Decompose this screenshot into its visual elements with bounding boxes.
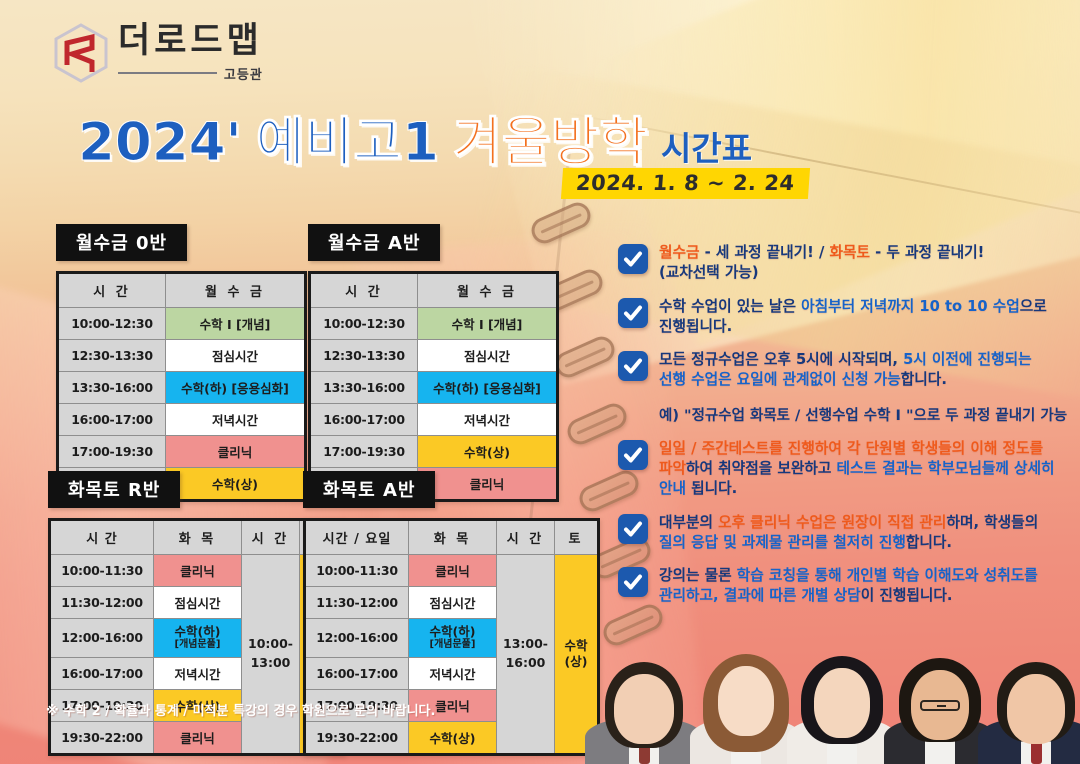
timetable-label: 월수금 0반 [56,224,187,261]
timetable-block-weekday-a: 월수금 A반시 간월 수 금10:00-12:30수학 I [개념]12:30-… [308,224,559,502]
time-cell: 13:30-16:00 [310,372,418,404]
feature-bullet: 강의는 물론 학습 코칭을 통해 개인별 학습 이해도와 성취도를관리하고, 결… [618,566,1070,607]
bullet-text-segment: 으로 [1020,298,1047,315]
time-cell: 11:30-12:00 [305,587,409,619]
bullet-text-segment: - 세 과정 끝내기! / [700,244,830,261]
timetable: 시 간월 수 금10:00-12:30수학 I [개념]12:30-13:30점… [56,271,307,502]
bullet-text-segment: 하여 취약점을 보완하고 [686,460,836,477]
time-cell: 12:30-13:30 [310,340,418,372]
bullet-line: 강의는 물론 학습 코칭을 통해 개인별 학습 이해도와 성취도를 [659,566,1038,586]
check-icon [618,244,648,274]
example-note: 예) "정규수업 화목토 / 선행수업 수학 Ⅰ "으로 두 과정 끝내기 가능 [659,404,1070,425]
bullet-text-segment: 수학 수업이 있는 날은 [659,298,801,315]
feature-bullet-list: 월수금 - 세 과정 끝내기! / 화목토 - 두 과정 끝내기!(교차선택 가… [618,243,1070,620]
time-cell: 12:00-16:00 [305,619,409,658]
check-icon [618,298,648,328]
table-row: 10:00-11:30클리닉13:00-16:00수학(상) [305,555,599,587]
bullet-line: 선행 수업은 요일에 관계없이 신청 가능합니다. [659,370,1032,390]
column-header: 시 간 [497,520,555,555]
bullet-text-segment: 대부분의 [659,514,718,531]
title-year: 2024' [78,118,242,168]
subject-cell: 저녁시간 [166,404,306,436]
bullet-text-segment: 관리하고, 결과에 따른 개별 상담 [659,587,861,604]
bullet-line: 관리하고, 결과에 따른 개별 상담이 진행됩니다. [659,586,1038,606]
table-row: 12:30-13:30점심시간 [58,340,306,372]
column-header: 시 간 [50,520,154,555]
table-header-row: 시 간화 목시 간토 [50,520,344,555]
glasses-icon [920,700,960,711]
table-row: 17:00-19:30클리닉 [58,436,306,468]
bullet-text-segment: 합니다. [901,371,947,388]
bullet-line: 월수금 - 세 과정 끝내기! / 화목토 - 두 과정 끝내기! [659,243,984,263]
time-cell: 12:00-16:00 [50,619,154,658]
subject-cell: 수학(상) [409,721,497,754]
subject-cell: 수학(하) [응용심화] [166,372,306,404]
bullet-text-segment: 테스트 결과는 학부모님들께 상세히 [837,460,1055,477]
saturday-time-cell: 10:00-13:00 [242,555,300,755]
column-header: 시 간 [310,273,418,308]
bullet-text: 강의는 물론 학습 코칭을 통해 개인별 학습 이해도와 성취도를관리하고, 결… [659,566,1038,607]
timetable-block-weekday-0: 월수금 0반시 간월 수 금10:00-12:30수학 I [개념]12:30-… [56,224,307,502]
bullet-text-segment: 아침부터 저녁까지 10 to 10 수업 [801,298,1020,315]
bullet-text-segment: 선행 수업은 요일에 관계없이 신청 가능 [659,371,901,388]
bullet-line: 대부분의 오후 클리닉 수업은 원장이 직접 관리하며, 학생들의 [659,513,1038,533]
column-header: 월 수 금 [166,273,306,308]
time-cell: 19:30-22:00 [305,721,409,754]
table-row: 17:00-19:30수학(상) [310,436,558,468]
bullet-text-segment: 진행됩니다. [659,318,732,335]
footnote-text: ※ 수학 2 / 확률과 통계 / 미적분 특강의 경우 학원으로 문의 바랍니… [46,700,435,719]
roadmap-hexagon-logo-icon [52,22,110,84]
bullet-text-segment: 질의 응답 및 과제물 관리를 철저히 진행 [659,534,906,551]
bullet-text-segment: 하며, 학생들의 [946,514,1038,531]
title-target: 예비고1 [256,118,439,168]
subject-cell: 저녁시간 [409,657,497,689]
time-cell: 12:30-13:30 [58,340,166,372]
time-cell: 16:00-17:00 [58,404,166,436]
bullet-text: 일일 / 주간테스트를 진행하여 각 단원별 학생들의 이해 정도를파악하여 취… [659,439,1055,500]
time-cell: 11:30-12:00 [50,587,154,619]
teacher-face [614,674,674,744]
bullet-line: (교차선택 가능) [659,263,984,283]
bullet-text-segment: 오후 클리닉 수업은 원장이 직접 관리 [718,514,946,531]
feature-bullet: 수학 수업이 있는 날은 아침부터 저녁까지 10 to 10 수업으로진행됩니… [618,297,1070,338]
column-header: 시 간 [58,273,166,308]
bullet-line: 안내 됩니다. [659,479,1055,499]
bullet-text-segment: 일일 / 주간테스트를 진행하여 각 단원별 학생들의 이해 정도를 [659,440,1043,457]
column-header: 화 목 [409,520,497,555]
teacher-face [1007,674,1065,744]
bullet-text-segment: 안내 [659,480,686,497]
feature-bullet: 월수금 - 세 과정 끝내기! / 화목토 - 두 과정 끝내기!(교차선택 가… [618,243,1070,284]
bullet-text-segment: 월수금 [659,244,700,261]
table-row: 16:00-17:00저녁시간 [58,404,306,436]
time-cell: 16:00-17:00 [310,404,418,436]
bullet-text: 수학 수업이 있는 날은 아침부터 저녁까지 10 to 10 수업으로진행됩니… [659,297,1047,338]
title-kind: 시간표 [661,133,752,168]
column-header: 화 목 [154,520,242,555]
timetable: 시 간화 목시 간토10:00-11:30클리닉10:00-13:00수학(상)… [48,518,345,756]
subject-cell: 수학(하)[개념문풀] [154,619,242,658]
subject-cell: 저녁시간 [154,657,242,689]
table-row: 13:30-16:00수학(하) [응용심화] [58,372,306,404]
bullet-text-segment: 합니다. [906,534,952,551]
time-cell: 16:00-17:00 [305,657,409,689]
bullet-text: 모든 정규수업은 오후 5시에 시작되며, 5시 이전에 진행되는선행 수업은 … [659,350,1032,391]
subject-cell: 수학(하) [응용심화] [418,372,558,404]
bullet-text-segment: 5시 이전에 진행되는 [903,351,1032,368]
bullet-line: 진행됩니다. [659,317,1047,337]
feature-bullet: 모든 정규수업은 오후 5시에 시작되며, 5시 이전에 진행되는선행 수업은 … [618,350,1070,391]
teacher-face [718,666,774,736]
date-range-badge: 2024. 1. 8 ~ 2. 24 [561,168,810,199]
table-row: 10:00-11:30클리닉10:00-13:00수학(상) [50,555,344,587]
subject-cell: 클리닉 [154,555,242,587]
poster-canvas: 더로드맵 고등관 2024' 예비고1 겨울방학 시간표 2024. 1. 8 … [0,0,1080,764]
table-row: 10:00-12:30수학 I [개념] [58,308,306,340]
bullet-text-segment: 모든 정규수업은 오후 5시에 시작되며, [659,351,903,368]
timetable-label: 화목토 A반 [303,471,435,508]
subject-cell: 점심시간 [166,340,306,372]
timetable: 시간 / 요일화 목시 간토10:00-11:30클리닉13:00-16:00수… [303,518,600,756]
feature-bullet: 대부분의 오후 클리닉 수업은 원장이 직접 관리하며, 학생들의질의 응답 및… [618,513,1070,554]
time-cell: 10:00-12:30 [310,308,418,340]
column-header: 토 [555,520,599,555]
bullet-text: 월수금 - 세 과정 끝내기! / 화목토 - 두 과정 끝내기!(교차선택 가… [659,243,984,284]
subject-cell: 클리닉 [166,436,306,468]
column-header: 시 간 [242,520,300,555]
subject-cell: 저녁시간 [418,404,558,436]
saturday-time-cell: 13:00-16:00 [497,555,555,755]
time-cell: 10:00-11:30 [50,555,154,587]
teacher-photo [590,644,698,764]
teacher-photo-row [578,644,1080,764]
teacher-photo [982,644,1080,764]
spiral-ring-3 [551,333,618,382]
time-cell: 10:00-12:30 [58,308,166,340]
bullet-line: 모든 정규수업은 오후 5시에 시작되며, 5시 이전에 진행되는 [659,350,1032,370]
time-cell: 13:30-16:00 [58,372,166,404]
logo-subtitle: 고등관 [224,64,263,83]
bullet-line: 수학 수업이 있는 날은 아침부터 저녁까지 10 to 10 수업으로 [659,297,1047,317]
check-icon [618,514,648,544]
check-icon [618,440,648,470]
time-cell: 10:00-11:30 [305,555,409,587]
subject-cell: 수학(상) [418,436,558,468]
subject-cell: 점심시간 [154,587,242,619]
bullet-text-segment: 강의는 물론 [659,567,737,584]
table-row: 12:30-13:30점심시간 [310,340,558,372]
subject-cell: 수학 I [개념] [166,308,306,340]
bullet-text-segment: 화목토 [829,244,870,261]
bullet-text-segment: 학습 코칭을 통해 개인별 학습 이해도와 성취도를 [737,567,1038,584]
subject-cell: 수학(하)[개념문풀] [409,619,497,658]
column-header: 시간 / 요일 [305,520,409,555]
brand-logo: 더로드맵 고등관 [52,22,263,84]
bullet-line: 질의 응답 및 과제물 관리를 철저히 진행합니다. [659,533,1038,553]
subject-cell: 수학 I [개념] [418,308,558,340]
table-row: 13:30-16:00수학(하) [응용심화] [310,372,558,404]
time-cell: 17:00-19:30 [58,436,166,468]
table-header-row: 시 간월 수 금 [58,273,306,308]
bullet-text-segment: 이 진행됩니다. [861,587,953,604]
time-cell: 19:30-22:00 [50,721,154,754]
bullet-text-segment: (교차선택 가능) [659,264,759,281]
timetable-label: 월수금 A반 [308,224,440,261]
time-cell: 16:00-17:00 [50,657,154,689]
table-header-row: 시간 / 요일화 목시 간토 [305,520,599,555]
logo-divider [118,72,217,74]
timetable-label: 화목토 R반 [48,471,180,508]
table-header-row: 시 간월 수 금 [310,273,558,308]
title-season: 겨울방학 [453,118,648,168]
table-row: 16:00-17:00저녁시간 [310,404,558,436]
teacher-photo [786,644,898,764]
subject-cell: 클리닉 [409,555,497,587]
timetable: 시 간월 수 금10:00-12:30수학 I [개념]12:30-13:30점… [308,271,559,502]
logo-name: 더로드맵 [118,24,263,59]
table-row: 10:00-12:30수학 I [개념] [310,308,558,340]
bullet-text-segment: 파악 [659,460,686,477]
time-cell: 17:00-19:30 [310,436,418,468]
bullet-text-segment: 됩니다. [686,480,737,497]
column-header: 월 수 금 [418,273,558,308]
subject-cell: 클리닉 [154,721,242,754]
subject-cell: 점심시간 [409,587,497,619]
teacher-face [814,668,870,738]
subject-cell: 점심시간 [418,340,558,372]
check-icon [618,351,648,381]
bullet-line: 일일 / 주간테스트를 진행하여 각 단원별 학생들의 이해 정도를 [659,439,1055,459]
bullet-text: 대부분의 오후 클리닉 수업은 원장이 직접 관리하며, 학생들의질의 응답 및… [659,513,1038,554]
bullet-line: 파악하여 취약점을 보완하고 테스트 결과는 학부모님들께 상세히 [659,459,1055,479]
page-title: 2024' 예비고1 겨울방학 시간표 [78,118,752,168]
bullet-text-segment: - 두 과정 끝내기! [870,244,984,261]
feature-bullet: 일일 / 주간테스트를 진행하여 각 단원별 학생들의 이해 정도를파악하여 취… [618,439,1070,500]
check-icon [618,567,648,597]
